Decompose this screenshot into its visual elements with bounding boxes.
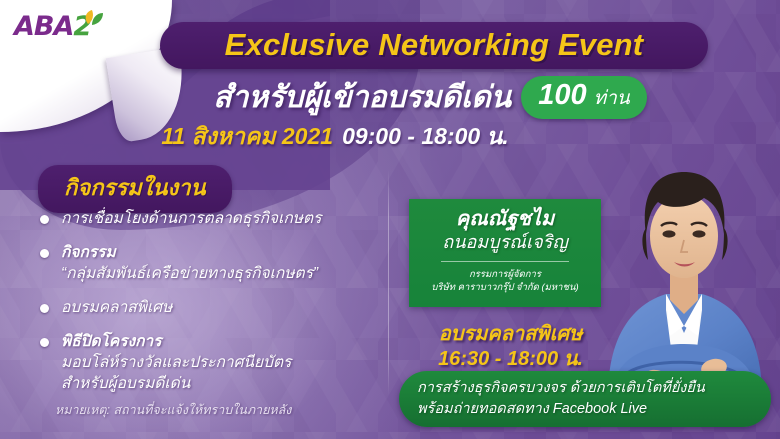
speaker-info-card: คุณณัฐชไม ถนอมบูรณ์เจริญ กรรมการผู้จัดกา… bbox=[409, 199, 601, 307]
aba2-logo: ABA2 bbox=[14, 12, 134, 46]
speaker-photo bbox=[596, 128, 772, 396]
event-poster: ABA2 Exclusive Networking Event สำหรับผู… bbox=[0, 0, 780, 439]
broadcast-line2: พร้อมถ่ายทอดสดทาง Facebook Live bbox=[417, 399, 771, 420]
list-item-text: อบรมคลาสพิเศษ bbox=[61, 297, 172, 318]
list-item-bold: กิจกรรม bbox=[61, 244, 116, 261]
activities-heading-pill: กิจกรรมในงาน bbox=[38, 165, 232, 213]
attendee-count-badge: 100 ท่าน bbox=[521, 76, 647, 119]
activities-list: การเชื่อมโยงด้านการตลาดธุรกิจเกษตร กิจกร… bbox=[40, 208, 390, 407]
activities-note: หมายเหตุ: สถานที่จะแจ้งให้ทราบในภายหลัง bbox=[55, 400, 385, 420]
list-item-text: กิจกรรม“กลุ่มสัมพันธ์เครือข่ายทางธุรกิจเ… bbox=[61, 242, 318, 284]
speaker-divider bbox=[441, 261, 569, 262]
list-item-line: การเชื่อมโยงด้านการตลาดธุรกิจเกษตร bbox=[61, 210, 321, 227]
attendee-count-number: 100 bbox=[538, 79, 586, 112]
date-row: 11 สิงหาคม 2021 09:00 - 18:00 น. bbox=[100, 122, 570, 152]
bullet-dot-icon bbox=[40, 215, 49, 224]
list-item-bold: พิธีปิดโครงการ bbox=[61, 333, 162, 350]
speaker-name-line2: ถนอมบูรณ์เจริญ bbox=[409, 231, 601, 254]
list-item: อบรมคลาสพิเศษ bbox=[40, 297, 390, 318]
speaker-position-line2: บริษัท คาราบาวกรุ๊ป จำกัด (มหาชน) bbox=[409, 281, 601, 294]
list-item-text: การเชื่อมโยงด้านการตลาดธุรกิจเกษตร bbox=[61, 208, 321, 229]
special-class-block: อบรมคลาสพิเศษ 16:30 - 18:00 น. bbox=[403, 322, 618, 372]
page-title: Exclusive Networking Event bbox=[160, 27, 708, 63]
activities-heading: กิจกรรมในงาน bbox=[64, 175, 206, 200]
bullet-dot-icon bbox=[40, 249, 49, 258]
logo-aba-text: ABA bbox=[14, 11, 73, 42]
list-item: การเชื่อมโยงด้านการตลาดธุรกิจเกษตร bbox=[40, 208, 390, 229]
speaker-position-line1: กรรมการผู้จัดการ bbox=[409, 268, 601, 281]
list-item: กิจกรรม“กลุ่มสัมพันธ์เครือข่ายทางธุรกิจเ… bbox=[40, 242, 390, 284]
subtitle-text: สำหรับผู้เข้าอบรมดีเด่น bbox=[213, 74, 511, 121]
attendee-count-unit: ท่าน bbox=[594, 83, 630, 113]
list-item-text: พิธีปิดโครงการมอบโล่ห์รางวัลและประกาศนีย… bbox=[61, 331, 291, 394]
broadcast-banner: การสร้างธุรกิจครบวงจร ด้วยการเติบโตที่ยั… bbox=[399, 371, 771, 427]
speaker-name-line1: คุณณัฐชไม bbox=[409, 199, 601, 231]
list-item: พิธีปิดโครงการมอบโล่ห์รางวัลและประกาศนีย… bbox=[40, 331, 390, 394]
special-class-label: อบรมคลาสพิเศษ bbox=[403, 322, 618, 347]
broadcast-line1: การสร้างธุรกิจครบวงจร ด้วยการเติบโตที่ยั… bbox=[417, 378, 771, 399]
leaf-icon bbox=[78, 8, 108, 26]
list-item-line: มอบโล่ห์รางวัลและประกาศนียบัตร bbox=[61, 354, 291, 371]
subtitle-row: สำหรับผู้เข้าอบรมดีเด่น 100 ท่าน bbox=[150, 76, 710, 118]
title-banner: Exclusive Networking Event bbox=[160, 22, 708, 69]
special-class-time: 16:30 - 18:00 น. bbox=[403, 347, 618, 372]
list-item-line: “กลุ่มสัมพันธ์เครือข่ายทางธุรกิจเกษตร” bbox=[61, 265, 318, 282]
event-time-range: 09:00 - 18:00 น. bbox=[342, 119, 509, 155]
list-item-line: อบรมคลาสพิเศษ bbox=[61, 299, 172, 316]
bullet-dot-icon bbox=[40, 304, 49, 313]
list-item-line: สำหรับผู้อบรมดีเด่น bbox=[61, 375, 190, 392]
event-date: 11 สิงหาคม 2021 bbox=[161, 119, 333, 155]
bullet-dot-icon bbox=[40, 338, 49, 347]
vertical-divider bbox=[388, 170, 389, 395]
